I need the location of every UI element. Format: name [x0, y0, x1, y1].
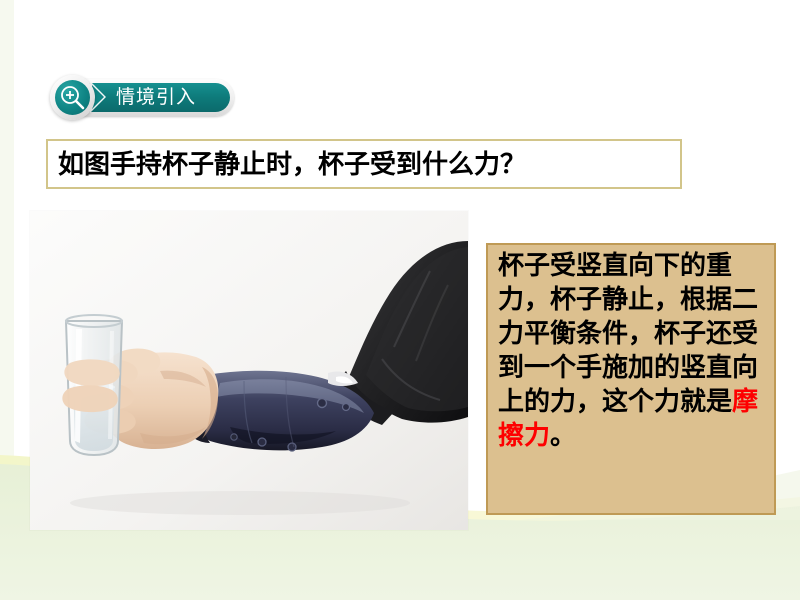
question-box: 如图手持杯子静止时，杯子受到什么力？ — [46, 139, 682, 189]
answer-line-6: 力，这个力就是 — [550, 387, 732, 417]
section-badge[interactable]: 情境引入 — [54, 79, 234, 116]
slide-canvas: 情境引入 如图手持杯子静止时，杯子受到什么力？ — [0, 0, 800, 600]
answer-line-1: 杯子受竖直向下的 — [498, 251, 706, 281]
answer-panel: 杯子受竖直向下的重力，杯子静止，根据二力平衡条件，杯子还受到一个手施加的竖直向上… — [486, 243, 776, 515]
zoom-in-magnifier-icon — [59, 84, 86, 111]
answer-text: 杯子受竖直向下的重力，杯子静止，根据二力平衡条件，杯子还受到一个手施加的竖直向上… — [498, 249, 770, 453]
question-text: 如图手持杯子静止时，杯子受到什么力？ — [58, 144, 526, 186]
prosthetic-arm-holding-glass-illustration — [30, 211, 468, 530]
badge-knob — [50, 75, 95, 120]
illustration-photo — [30, 211, 468, 530]
answer-period: 。 — [550, 421, 576, 451]
badge-label: 情境引入 — [116, 83, 226, 112]
